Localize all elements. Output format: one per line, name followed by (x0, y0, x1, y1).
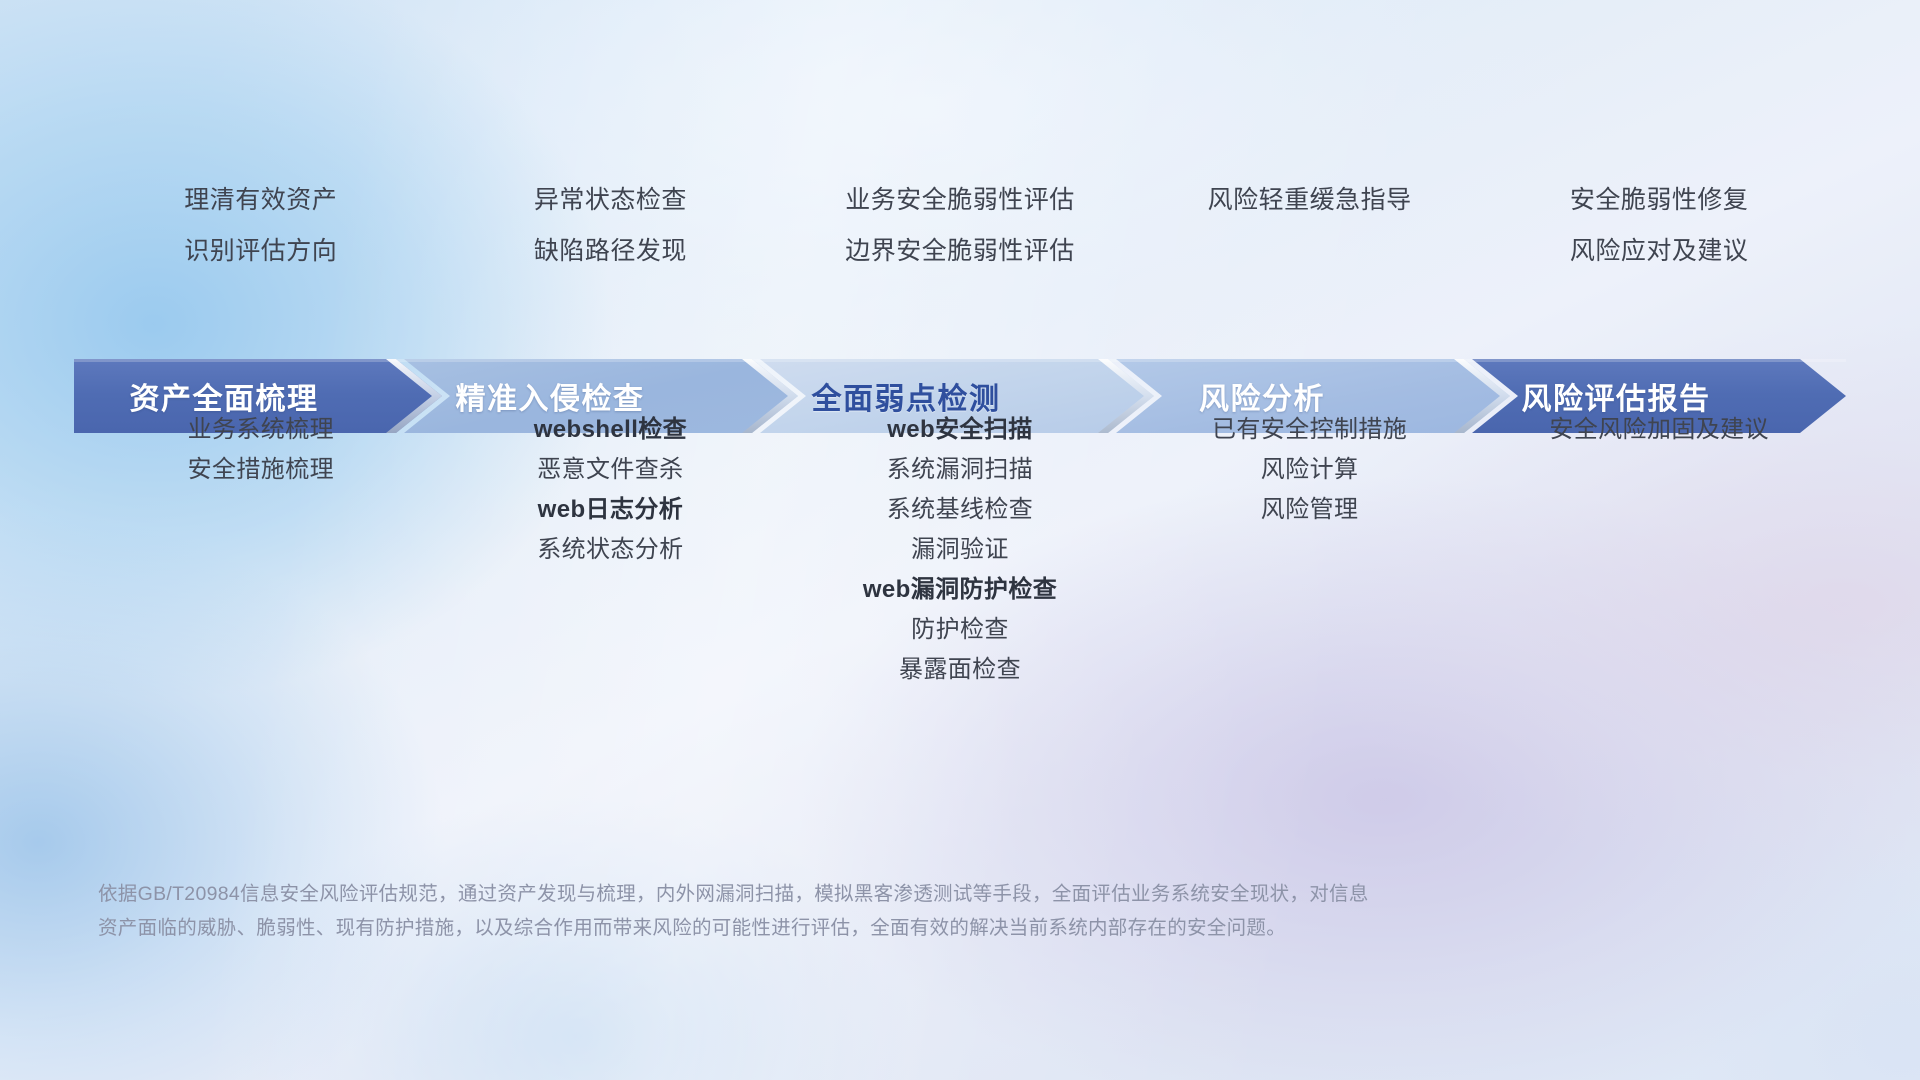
footnote-line-1: 依据GB/T20984信息安全风险评估规范，通过资产发现与梳理，内外网漏洞扫描，… (98, 877, 1778, 911)
bottom-item: web安全扫描 (785, 418, 1135, 442)
top-feature-columns: 理清有效资产识别评估方向异常状态检查缺陷路径发现业务安全脆弱性评估边界安全脆弱性… (86, 188, 1834, 290)
bottom-item: 风险管理 (1135, 498, 1485, 522)
top-item: 识别评估方向 (86, 239, 436, 264)
top-column-risk-analysis: 风险轻重缓急指导 (1135, 188, 1485, 290)
bottom-item: 暴露面检查 (785, 658, 1135, 682)
bottom-item: web漏洞防护检查 (785, 578, 1135, 602)
bottom-column-asset-inventory: 业务系统梳理安全措施梳理 (86, 418, 436, 698)
top-column-risk-report: 安全脆弱性修复风险应对及建议 (1484, 188, 1834, 290)
bottom-column-weakness-detection: web安全扫描系统漏洞扫描系统基线检查漏洞验证web漏洞防护检查防护检查暴露面检… (785, 418, 1135, 698)
top-item: 理清有效资产 (86, 188, 436, 213)
bottom-item: 恶意文件查杀 (436, 458, 786, 482)
bottom-column-risk-analysis: 已有安全控制措施风险计算风险管理 (1135, 418, 1485, 698)
top-item: 风险应对及建议 (1484, 239, 1834, 264)
bottom-item: 系统基线检查 (785, 498, 1135, 522)
top-item: 安全脆弱性修复 (1484, 188, 1834, 213)
top-item: 异常状态检查 (436, 188, 786, 213)
bottom-column-risk-report: 安全风险加固及建议 (1484, 418, 1834, 698)
bottom-item: 风险计算 (1135, 458, 1485, 482)
top-column-weakness-detection: 业务安全脆弱性评估边界安全脆弱性评估 (785, 188, 1135, 290)
top-item: 业务安全脆弱性评估 (785, 188, 1135, 213)
top-column-asset-inventory: 理清有效资产识别评估方向 (86, 188, 436, 290)
bottom-detail-columns: 业务系统梳理安全措施梳理webshell检查恶意文件查杀web日志分析系统状态分… (86, 418, 1834, 698)
bottom-item: 安全措施梳理 (86, 458, 436, 482)
bottom-item: 已有安全控制措施 (1135, 418, 1485, 442)
footnote-line-2: 资产面临的威胁、脆弱性、现有防护措施，以及综合作用而带来风险的可能性进行评估，全… (98, 911, 1778, 945)
slide-content: 理清有效资产识别评估方向异常状态检查缺陷路径发现业务安全脆弱性评估边界安全脆弱性… (0, 0, 1920, 1080)
bottom-column-intrusion-check: webshell检查恶意文件查杀web日志分析系统状态分析 (436, 418, 786, 698)
top-item: 缺陷路径发现 (436, 239, 786, 264)
bottom-item: webshell检查 (436, 418, 786, 442)
top-item: 边界安全脆弱性评估 (785, 239, 1135, 264)
bottom-item: web日志分析 (436, 498, 786, 522)
bottom-item: 安全风险加固及建议 (1484, 418, 1834, 442)
bottom-item: 漏洞验证 (785, 538, 1135, 562)
bottom-item: 系统状态分析 (436, 538, 786, 562)
top-column-intrusion-check: 异常状态检查缺陷路径发现 (436, 188, 786, 290)
slide-canvas: 理清有效资产识别评估方向异常状态检查缺陷路径发现业务安全脆弱性评估边界安全脆弱性… (0, 0, 1920, 1080)
bottom-item: 业务系统梳理 (86, 418, 436, 442)
bottom-item: 防护检查 (785, 618, 1135, 642)
bottom-item: 系统漏洞扫描 (785, 458, 1135, 482)
footnote: 依据GB/T20984信息安全风险评估规范，通过资产发现与梳理，内外网漏洞扫描，… (98, 877, 1778, 945)
top-item: 风险轻重缓急指导 (1135, 188, 1485, 213)
